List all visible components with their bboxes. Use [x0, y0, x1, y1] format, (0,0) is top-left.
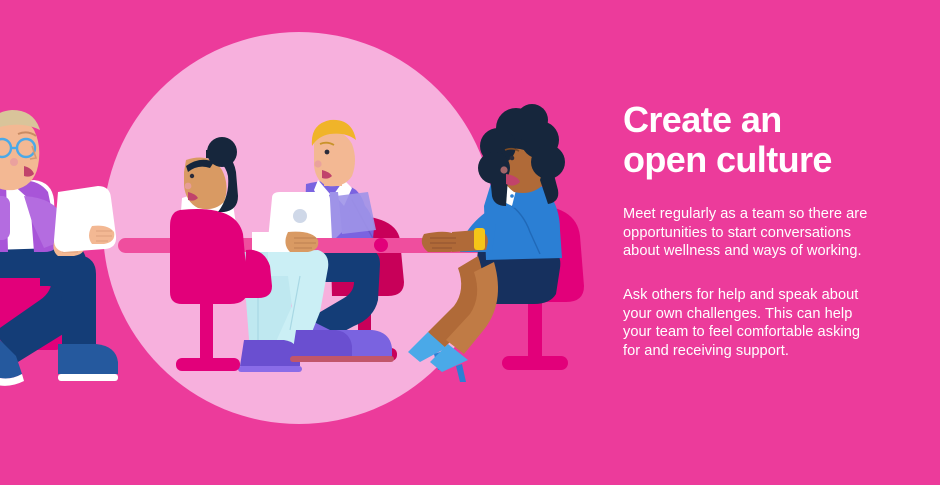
woman-center-cheek [185, 183, 192, 190]
woman-right-eye [510, 156, 515, 161]
woman-center-shoe-front-sole [290, 356, 354, 362]
woman-right-watch [474, 228, 485, 250]
woman-center-chair-post [200, 300, 213, 362]
body-paragraph-1: Meet regularly as a team so there are op… [623, 205, 871, 261]
woman-right-cheek [500, 166, 507, 173]
slide-root: Create an open culture Meet regularly as… [0, 0, 940, 485]
left-sleeve-back [0, 196, 10, 240]
woman-right-chair-base [502, 356, 568, 370]
woman-center-eye [190, 174, 194, 178]
illustration-svg [0, 0, 610, 485]
laptop-logo-icon [293, 209, 307, 223]
woman-center-chair-back [170, 209, 248, 304]
woman-center-chair-base [176, 358, 240, 371]
illustration-panel [0, 0, 610, 485]
body-paragraph-2: Ask others for help and speak about your… [623, 286, 871, 360]
woman-right-button-2 [512, 204, 516, 208]
woman-center-shoe-back-sole [238, 366, 302, 372]
headline-line-2: open culture [623, 140, 923, 180]
woman-center-shoe-front [292, 330, 352, 356]
left-shoe-front-sole [58, 374, 118, 381]
woman-center-shoe-back [240, 340, 300, 366]
woman-right-hand [422, 232, 461, 252]
laptop-man-eye [325, 150, 330, 155]
page-title: Create an open culture [623, 100, 923, 180]
headline-line-1: Create an [623, 100, 923, 140]
left-shoe-front [58, 344, 118, 374]
left-cheek [10, 158, 18, 166]
woman-right-chair-post [528, 296, 542, 360]
laptop-man-cheek [314, 160, 321, 167]
text-panel: Create an open culture Meet regularly as… [623, 0, 940, 485]
woman-right-button-1 [510, 194, 514, 198]
accent-dot [374, 238, 388, 252]
